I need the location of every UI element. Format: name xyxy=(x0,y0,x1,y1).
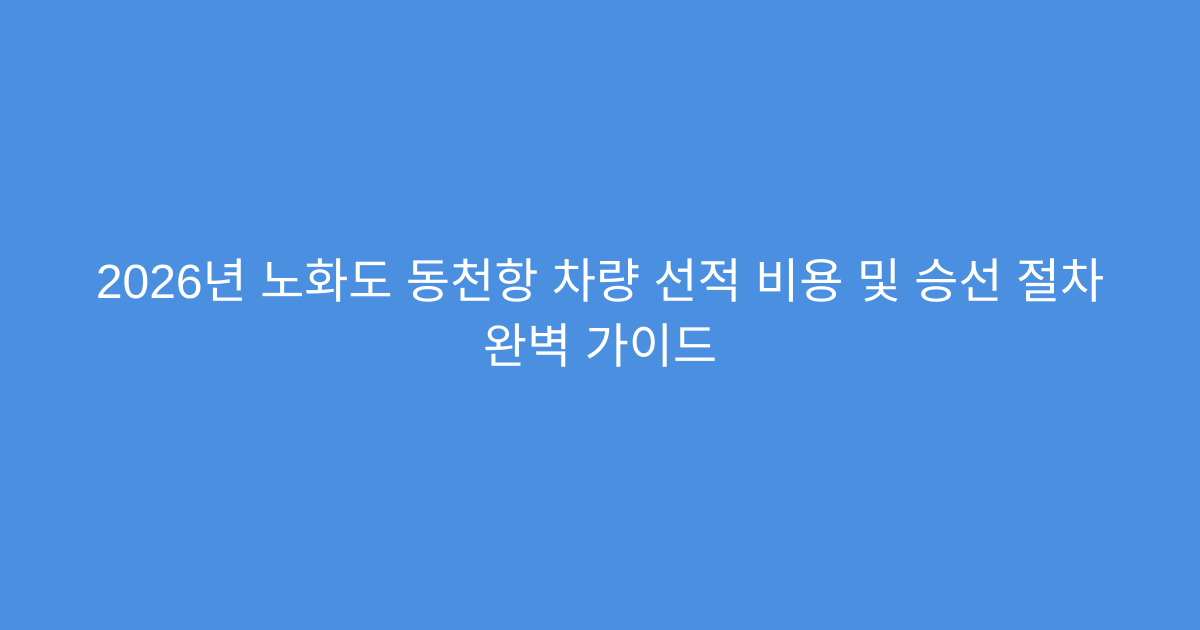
title-block: 2026년 노화도 동천항 차량 선적 비용 및 승선 절차 완벽 가이드 xyxy=(48,250,1152,380)
og-image-card: 2026년 노화도 동천항 차량 선적 비용 및 승선 절차 완벽 가이드 xyxy=(0,0,1200,630)
page-title: 2026년 노화도 동천항 차량 선적 비용 및 승선 절차 완벽 가이드 xyxy=(48,250,1152,380)
